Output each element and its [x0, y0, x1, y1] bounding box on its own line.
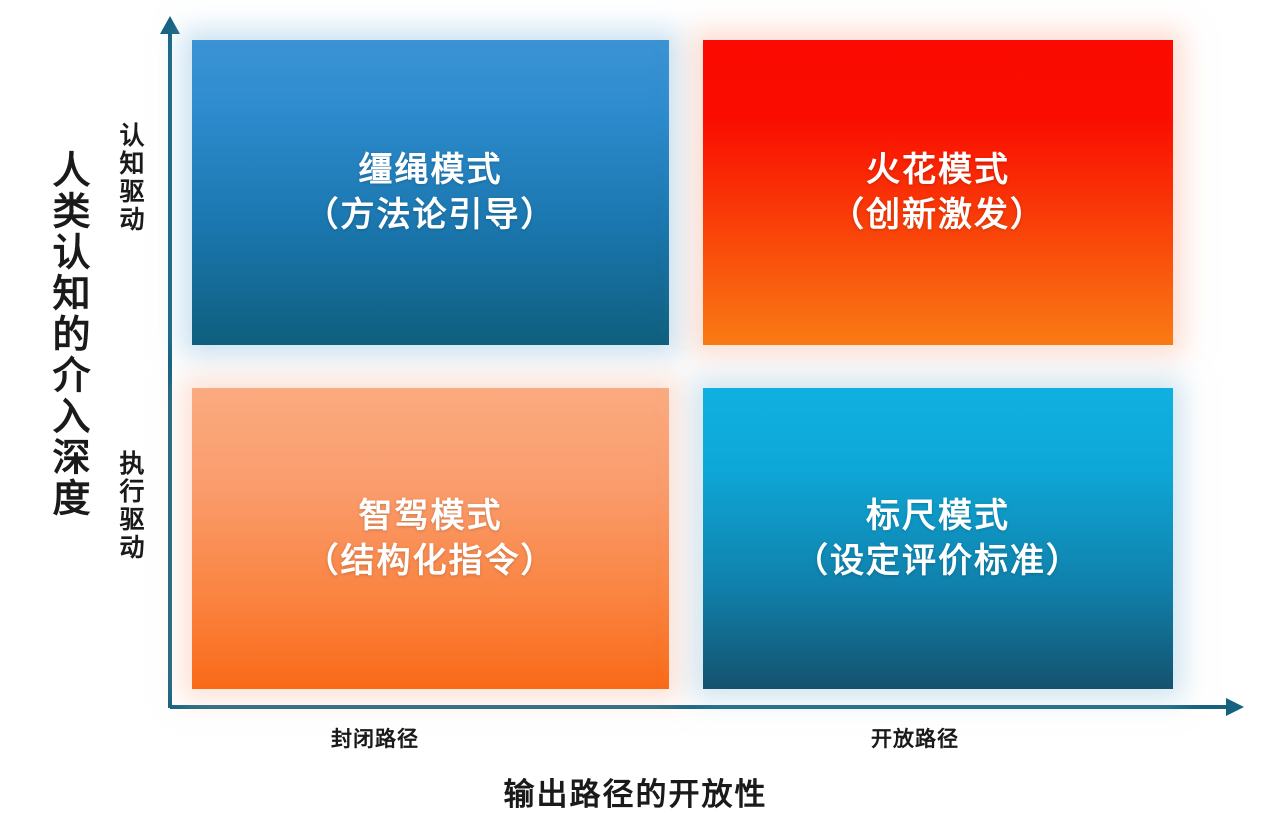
quadrant-bottom-left-autodrive-mode[interactable]: 智驾模式 （结构化指令） — [192, 388, 669, 689]
quadrant-top-left-reins-mode[interactable]: 缰绳模式 （方法论引导） — [192, 40, 669, 345]
quadrant-subtitle: （结构化指令） — [305, 539, 557, 584]
y-axis-line — [168, 30, 172, 708]
quadrant-title: 智驾模式 — [359, 494, 503, 539]
y-axis-tick-label-top: 认知驱动 — [110, 122, 144, 234]
x-axis-arrow-icon — [1226, 698, 1244, 716]
quadrant-bottom-right-ruler-mode[interactable]: 标尺模式 （设定评价标准） — [703, 388, 1173, 689]
quadrant-title: 缰绳模式 — [359, 148, 503, 193]
x-axis-title: 输出路径的开放性 — [0, 769, 1271, 814]
quadrant-matrix-diagram: 人类认知的介入深度 认知驱动 执行驱动 缰绳模式 （方法论引导） 火花模式 （创… — [0, 0, 1271, 827]
y-axis-tick-label-bottom: 执行驱动 — [110, 450, 144, 562]
y-axis-arrow-icon — [160, 16, 180, 34]
quadrant-title: 标尺模式 — [866, 494, 1010, 539]
quadrant-top-right-spark-mode[interactable]: 火花模式 （创新激发） — [703, 40, 1173, 345]
x-axis-tick-label-right: 开放路径 — [871, 723, 959, 753]
quadrant-subtitle: （创新激发） — [830, 193, 1046, 238]
quadrant-title: 火花模式 — [866, 148, 1010, 193]
quadrant-subtitle: （设定评价标准） — [794, 539, 1082, 584]
x-axis-line — [170, 705, 1232, 709]
quadrant-subtitle: （方法论引导） — [305, 193, 557, 238]
x-axis-tick-label-left: 封闭路径 — [331, 723, 419, 753]
y-axis-title: 人类认知的介入深度 — [32, 150, 88, 519]
